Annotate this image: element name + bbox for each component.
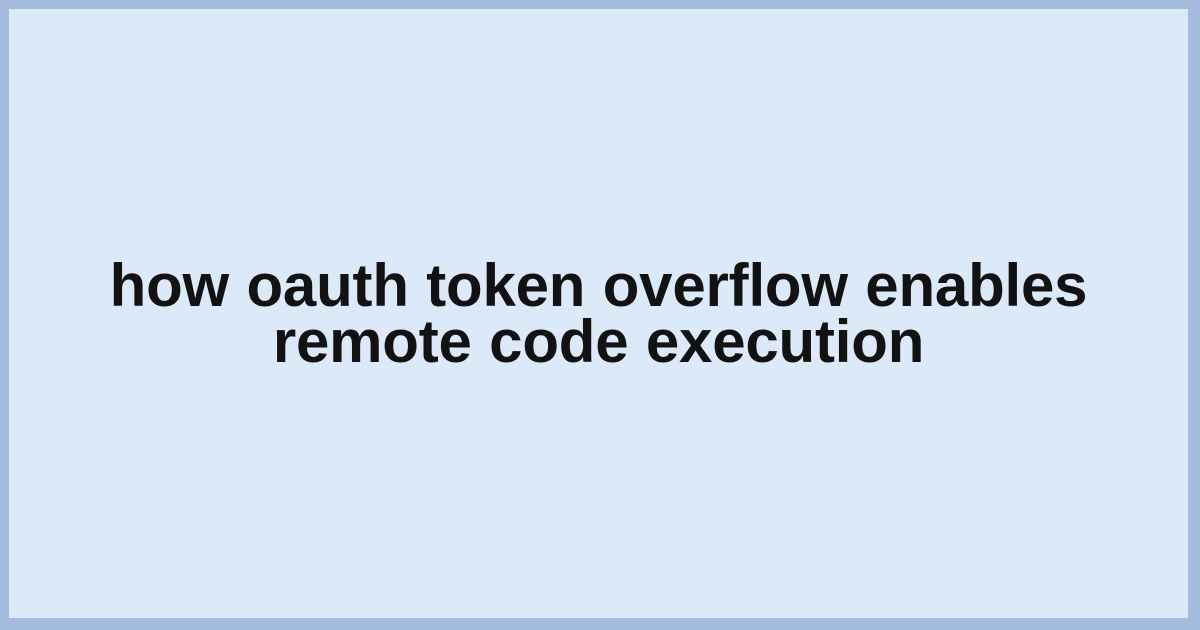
preview-card-canvas: how oauth token overflow enables remote …: [9, 9, 1188, 618]
page-title: how oauth token overflow enables remote …: [29, 258, 1168, 370]
headline-block: how oauth token overflow enables remote …: [29, 258, 1168, 370]
preview-card-frame: how oauth token overflow enables remote …: [0, 0, 1200, 630]
